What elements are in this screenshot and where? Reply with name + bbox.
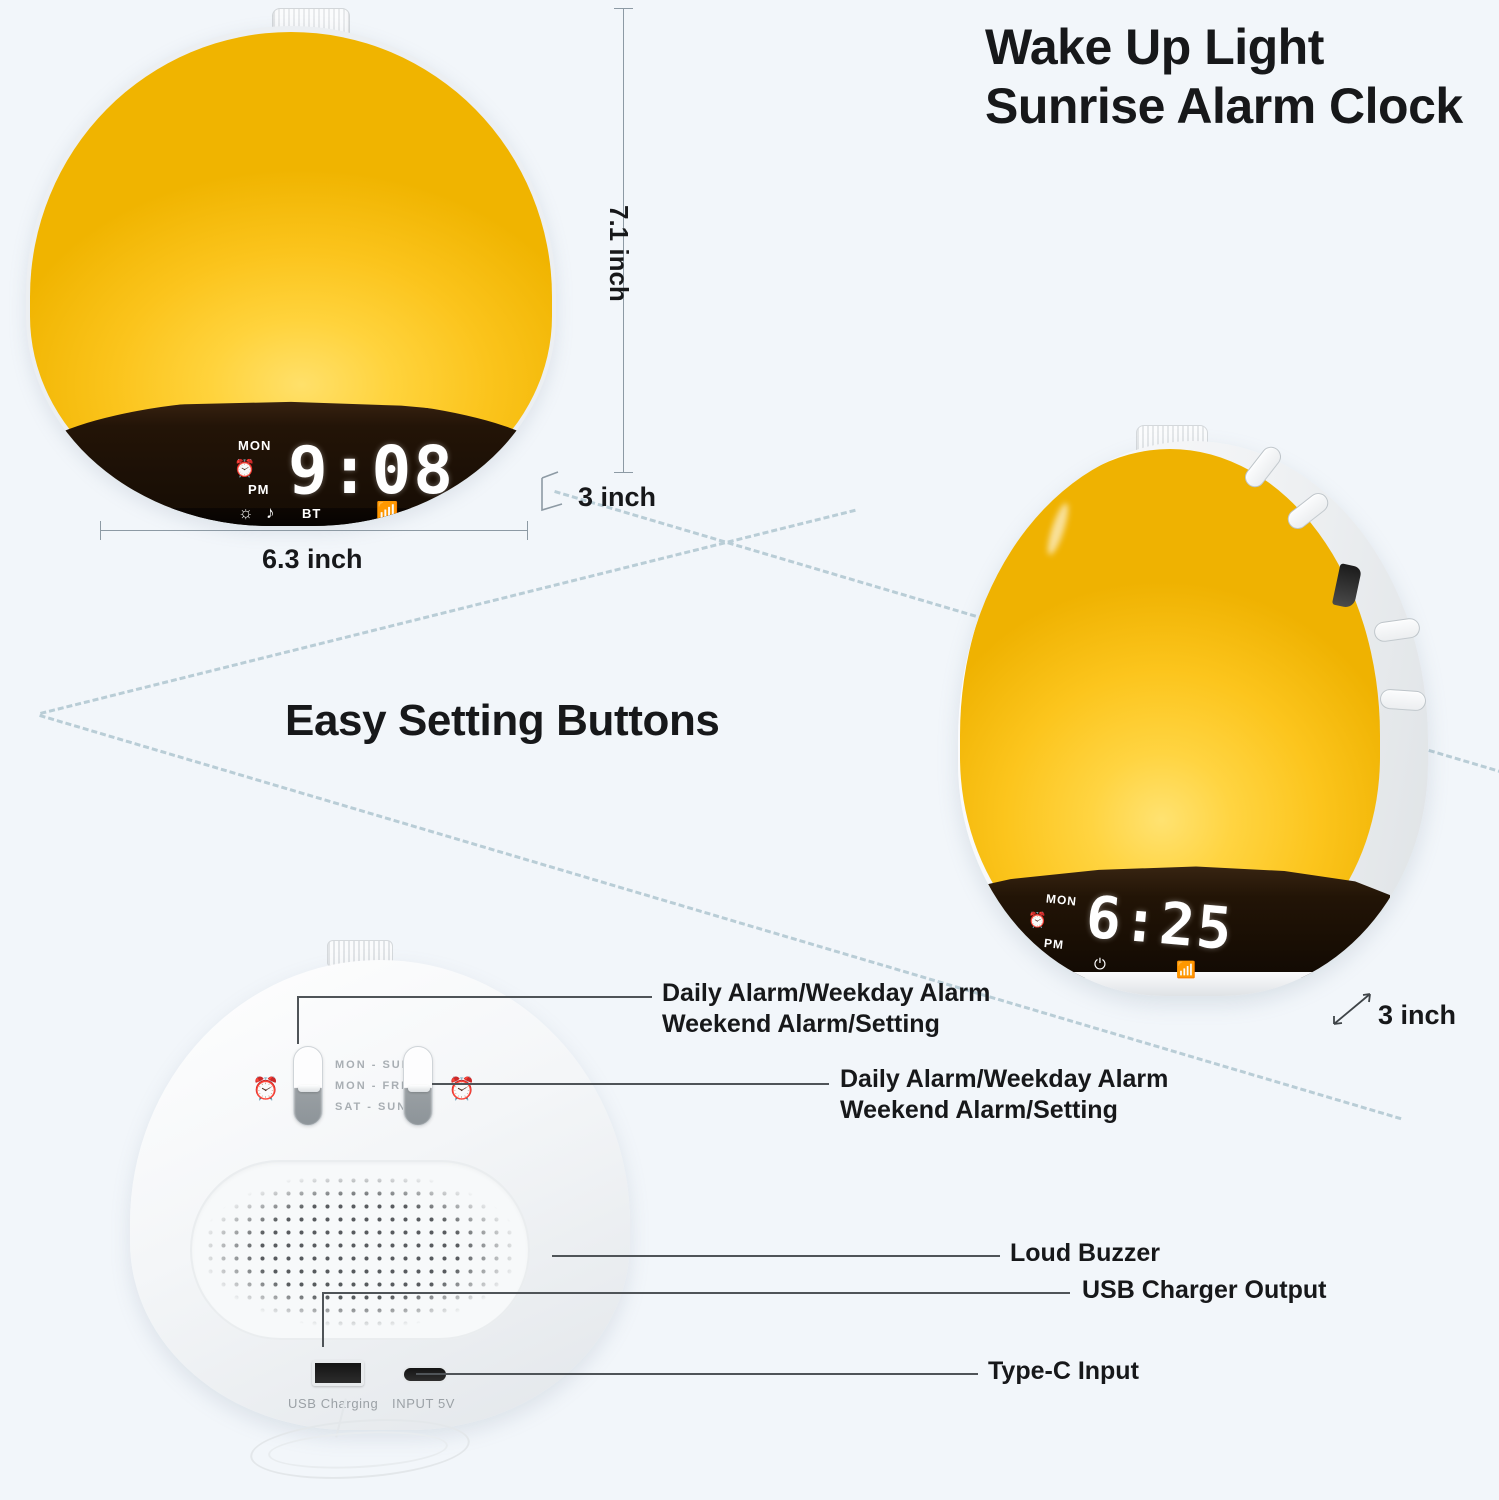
music-note-icon: ♪	[266, 504, 275, 521]
switch-range-labels: MON - SUN MON - FRI SAT - SUN	[335, 1055, 412, 1118]
callout-type-c-input: Type-C Input	[988, 1356, 1139, 1387]
alarm-switch-2[interactable]	[293, 1046, 323, 1126]
height-dimension-label: 7.1 inch	[603, 205, 634, 302]
display-day: MON	[238, 438, 271, 453]
product-front-view: MON ⏰ PM ☼ ♪ 9:08 BT 📶	[18, 8, 563, 528]
speaker-grille	[190, 1160, 530, 1340]
leader-switch2-horizontal	[297, 996, 652, 998]
leader-switch1-horizontal	[432, 1083, 829, 1085]
title-line-1: Wake Up Light	[985, 18, 1485, 77]
angled-depth-dimension-line	[1330, 990, 1378, 1030]
width-dimension-line	[100, 530, 528, 531]
speaker-grille-dots	[204, 1174, 516, 1326]
front-housing: MON ⏰ PM ☼ ♪ 9:08 BT 📶	[26, 26, 556, 526]
angled-bluetooth-icon: ⏻	[1094, 957, 1106, 972]
product-angled-view: MON ⏰ PM ☼ 6:25 ⏻ 📶	[940, 425, 1460, 1015]
callout-alarm-switch-2-line2: Weekend Alarm/Setting	[662, 1009, 990, 1040]
leader-switch2-vertical	[297, 996, 299, 1044]
angled-display-meridiem: PM	[1043, 936, 1064, 952]
alarm-1-icon: ⏰	[448, 1076, 475, 1102]
leader-buzzer-horizontal	[552, 1255, 1000, 1257]
angled-wifi-icon: 📶	[1176, 963, 1196, 979]
leader-typec-horizontal	[416, 1373, 978, 1375]
side-button-alarm[interactable]	[1379, 688, 1426, 711]
infographic-stage: Wake Up Light Sunrise Alarm Clock Easy S…	[0, 0, 1499, 1500]
width-dimension-label: 6.3 inch	[262, 544, 363, 575]
display-bluetooth-label: BT	[302, 506, 321, 521]
callout-alarm-switch-2: Daily Alarm/Weekday Alarm Weekend Alarm/…	[662, 978, 990, 1039]
leader-usb-horizontal	[322, 1292, 1070, 1294]
angled-display-time: 6:25	[1083, 883, 1236, 964]
back-housing: ⏰ MON - SUN MON - FRI SAT - SUN ⏰ USB Ch…	[130, 960, 630, 1430]
switch-label-mon-fri: MON - FRI	[335, 1076, 412, 1097]
product-back-view: ⏰ MON - SUN MON - FRI SAT - SUN ⏰ USB Ch…	[120, 940, 640, 1440]
front-base-strip	[26, 508, 556, 526]
alarm-switch-1[interactable]	[403, 1046, 433, 1126]
brightness-sun-icon: ☼	[238, 504, 254, 521]
callout-alarm-switch-1-line2: Weekend Alarm/Setting	[840, 1095, 1168, 1126]
alarm-clock-icon: ⏰	[234, 460, 255, 477]
angled-depth-dimension-label: 3 inch	[1378, 1000, 1456, 1031]
display-meridiem: PM	[248, 482, 270, 497]
depth-dimension-label: 3 inch	[578, 482, 656, 513]
switch-label-sat-sun: SAT - SUN	[335, 1097, 412, 1118]
callout-usb-charger-output: USB Charger Output	[1082, 1275, 1326, 1306]
typec-port-label: INPUT 5V	[392, 1396, 455, 1411]
leader-usb-vertical	[322, 1292, 324, 1347]
display-time: 9:08	[288, 432, 455, 509]
callout-alarm-switch-2-line1: Daily Alarm/Weekday Alarm	[662, 978, 990, 1009]
callout-alarm-switch-1: Daily Alarm/Weekday Alarm Weekend Alarm/…	[840, 1064, 1168, 1125]
usb-charger-port[interactable]	[312, 1360, 364, 1386]
page-title: Wake Up Light Sunrise Alarm Clock	[985, 18, 1485, 136]
dashed-guide-2	[40, 509, 856, 715]
callout-alarm-switch-1-line1: Daily Alarm/Weekday Alarm	[840, 1064, 1168, 1095]
switch-label-mon-sun: MON - SUN	[335, 1055, 412, 1076]
usb-port-label: USB Charging	[288, 1396, 378, 1411]
callout-loud-buzzer: Loud Buzzer	[1010, 1238, 1160, 1269]
title-line-2: Sunrise Alarm Clock	[985, 77, 1485, 136]
angled-housing: MON ⏰ PM ☼ 6:25 ⏻ 📶	[958, 441, 1428, 996]
alarm-2-icon: ⏰	[252, 1076, 279, 1102]
section-title: Easy Setting Buttons	[285, 696, 720, 746]
angled-brightness-sun-icon: ☼	[1036, 957, 1050, 972]
angled-alarm-clock-icon: ⏰	[1028, 913, 1047, 928]
wifi-icon: 📶	[376, 502, 398, 520]
